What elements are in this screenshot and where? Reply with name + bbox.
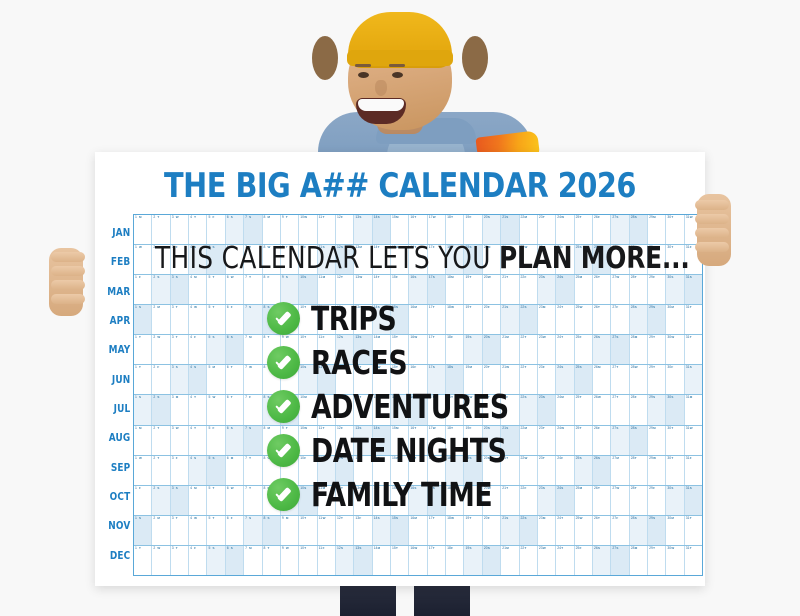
calendar-day-cell[interactable]: 15F (391, 486, 409, 515)
calendar-day-cell[interactable]: 24T (556, 546, 574, 575)
calendar-day-cell[interactable]: 15M (391, 426, 409, 455)
calendar-day-cell[interactable]: 12T (336, 486, 354, 515)
calendar-day-cell[interactable]: 22S (520, 516, 538, 545)
calendar-day-cell[interactable]: 11S (318, 245, 336, 274)
calendar-day-cell[interactable]: 31S (685, 486, 702, 515)
calendar-day-cell[interactable]: 16W (409, 546, 427, 575)
calendar-day-cell[interactable]: 8M (263, 215, 281, 244)
calendar-day-cell[interactable]: 3W (171, 426, 189, 455)
calendar-day-cell[interactable]: 2W (152, 546, 170, 575)
calendar-grid[interactable]: 1M2T3W4T5F6S7S8M9T10W11T12F13S14S15M16T1… (133, 214, 703, 576)
calendar-day-cell[interactable]: 30T (666, 215, 684, 244)
calendar-day-cell[interactable]: 10S (299, 365, 317, 394)
calendar-day-cell[interactable]: 31T (685, 546, 702, 575)
calendar-day-cell[interactable]: 16T (409, 426, 427, 455)
calendar-day-cell[interactable]: 13T (354, 365, 372, 394)
calendar-day-cell[interactable]: 25F (575, 546, 593, 575)
calendar-day-cell[interactable]: 29W (648, 456, 666, 485)
calendar-day-cell[interactable]: 18W (446, 305, 464, 334)
calendar-day-cell[interactable]: 10T (299, 546, 317, 575)
calendar-day-cell[interactable]: 15T (391, 365, 409, 394)
calendar-day-cell[interactable]: 12F (336, 426, 354, 455)
calendar-day-cell[interactable]: 6T (226, 365, 244, 394)
calendar-day-cell[interactable]: 9W (281, 335, 299, 364)
calendar-day-cell[interactable]: 18S (446, 365, 464, 394)
calendar-day-cell[interactable]: 19W (464, 395, 482, 424)
calendar-day-cell[interactable]: 17S (428, 275, 446, 304)
calendar-day-cell[interactable]: 2T (152, 426, 170, 455)
calendar-day-cell[interactable]: 24T (556, 516, 574, 545)
calendar-day-cell[interactable]: 1W (134, 245, 152, 274)
calendar-day-cell[interactable]: 25W (575, 516, 593, 545)
calendar-day-cell[interactable]: 4S (189, 245, 207, 274)
calendar-day-cell[interactable]: 15S (391, 516, 409, 545)
calendar-day-cell[interactable]: 4S (189, 456, 207, 485)
calendar-day-cell[interactable]: 30W (666, 546, 684, 575)
calendar-day-cell[interactable]: 7T (244, 456, 262, 485)
calendar-day-cell[interactable]: 14S (373, 305, 391, 334)
calendar-day-cell[interactable]: 26T (593, 275, 611, 304)
calendar-day-cell[interactable]: 8F (263, 275, 281, 304)
calendar-day-cell[interactable]: 23T (538, 245, 556, 274)
calendar-day-cell[interactable]: 14T (373, 456, 391, 485)
calendar-day-cell[interactable]: 18F (446, 546, 464, 575)
calendar-day-cell[interactable]: 29S (648, 305, 666, 334)
calendar-day-cell[interactable]: 2S (152, 275, 170, 304)
calendar-day-cell[interactable]: 4M (189, 486, 207, 515)
calendar-day-cell[interactable]: 27S (611, 546, 629, 575)
calendar-day-cell[interactable]: 23F (538, 365, 556, 394)
calendar-day-cell[interactable]: 22T (520, 335, 538, 364)
calendar-day-cell[interactable]: 20S (483, 546, 501, 575)
calendar-day-cell[interactable]: 19S (464, 245, 482, 274)
calendar-day-cell[interactable]: 26F (593, 426, 611, 455)
calendar-day-cell[interactable]: 26T (593, 516, 611, 545)
calendar-day-cell[interactable]: 26S (593, 335, 611, 364)
calendar-day-cell[interactable]: 22F (520, 275, 538, 304)
calendar-day-cell[interactable]: 19F (464, 426, 482, 455)
calendar-day-cell[interactable]: 26T (593, 486, 611, 515)
calendar-day-cell[interactable]: 24T (556, 305, 574, 334)
calendar-day-cell[interactable]: 30S (666, 275, 684, 304)
calendar-day-cell[interactable]: 28S (630, 215, 648, 244)
calendar-day-cell[interactable]: 22T (520, 365, 538, 394)
calendar-day-cell[interactable]: 25S (575, 456, 593, 485)
calendar-day-cell[interactable]: 14W (373, 365, 391, 394)
calendar-day-cell[interactable]: 26S (593, 245, 611, 274)
calendar-day-cell[interactable]: 14T (373, 275, 391, 304)
calendar-day-cell[interactable]: 14S (373, 516, 391, 545)
calendar-day-cell[interactable]: 16M (409, 516, 427, 545)
calendar-day-cell[interactable]: 5S (207, 546, 225, 575)
calendar-day-cell[interactable]: 21T (501, 275, 519, 304)
calendar-day-cell[interactable]: 17T (428, 546, 446, 575)
calendar-day-cell[interactable]: 28M (630, 335, 648, 364)
calendar-day-cell[interactable]: 1T (134, 335, 152, 364)
calendar-day-cell[interactable]: 11W (318, 516, 336, 545)
calendar-day-cell[interactable]: 6F (226, 305, 244, 334)
calendar-day-cell[interactable]: 18S (446, 245, 464, 274)
calendar-day-cell[interactable]: 29S (648, 516, 666, 545)
calendar-day-cell[interactable]: 9S (281, 486, 299, 515)
calendar-day-cell[interactable]: 26W (593, 395, 611, 424)
calendar-day-cell[interactable]: 16F (409, 365, 427, 394)
calendar-day-cell[interactable]: 8T (263, 365, 281, 394)
calendar-day-cell[interactable]: 14M (373, 335, 391, 364)
calendar-day-cell[interactable]: 23T (538, 215, 556, 244)
calendar-day-cell[interactable]: 10S (299, 486, 317, 515)
calendar-day-cell[interactable]: 8F (263, 486, 281, 515)
calendar-day-cell[interactable]: 7T (244, 486, 262, 515)
calendar-day-cell[interactable]: 9T (281, 245, 299, 274)
calendar-day-cell[interactable]: 3S (171, 486, 189, 515)
calendar-day-cell[interactable]: 9M (281, 516, 299, 545)
calendar-day-cell[interactable]: 11M (318, 486, 336, 515)
calendar-day-cell[interactable]: 25F (575, 335, 593, 364)
calendar-day-cell[interactable]: 5W (207, 395, 225, 424)
calendar-day-cell[interactable]: 3T (171, 516, 189, 545)
calendar-day-cell[interactable]: 11F (318, 335, 336, 364)
calendar-day-cell[interactable]: 19S (464, 335, 482, 364)
calendar-day-cell[interactable]: 27T (611, 365, 629, 394)
calendar-day-cell[interactable]: 12W (336, 395, 354, 424)
calendar-day-cell[interactable]: 10W (299, 426, 317, 455)
calendar-day-cell[interactable]: 2W (152, 335, 170, 364)
calendar-day-cell[interactable]: 23M (538, 305, 556, 334)
calendar-day-cell[interactable]: 6S (226, 546, 244, 575)
calendar-day-cell[interactable]: 7W (244, 365, 262, 394)
calendar-day-cell[interactable]: 1F (134, 275, 152, 304)
calendar-day-cell[interactable]: 17F (428, 245, 446, 274)
calendar-day-cell[interactable]: 19F (464, 215, 482, 244)
calendar-day-cell[interactable]: 14M (373, 546, 391, 575)
calendar-day-cell[interactable]: 31W (685, 426, 702, 455)
calendar-day-cell[interactable]: 7M (244, 335, 262, 364)
calendar-day-cell[interactable]: 17T (428, 305, 446, 334)
calendar-day-cell[interactable]: 9M (281, 305, 299, 334)
calendar-day-cell[interactable]: 1M (134, 215, 152, 244)
calendar-day-cell[interactable]: 31T (685, 305, 702, 334)
calendar-day-cell[interactable]: 25T (575, 395, 593, 424)
calendar-day-cell[interactable]: 12T (336, 516, 354, 545)
calendar-day-cell[interactable]: 26T (593, 305, 611, 334)
calendar-day-cell[interactable]: 23M (538, 516, 556, 545)
calendar-day-cell[interactable]: 21S (501, 215, 519, 244)
calendar-day-cell[interactable]: 14T (373, 245, 391, 274)
calendar-day-cell[interactable]: 17W (428, 215, 446, 244)
calendar-day-cell[interactable]: 17S (428, 365, 446, 394)
calendar-day-cell[interactable]: 29F (648, 275, 666, 304)
calendar-day-cell[interactable]: 29T (648, 365, 666, 394)
calendar-day-cell[interactable]: 28S (630, 516, 648, 545)
calendar-day-cell[interactable]: 3F (171, 456, 189, 485)
calendar-day-cell[interactable]: 18M (446, 275, 464, 304)
calendar-day-cell[interactable]: 28T (630, 275, 648, 304)
calendar-day-cell[interactable]: 6S (226, 215, 244, 244)
calendar-day-cell[interactable]: 26S (593, 546, 611, 575)
calendar-day-cell[interactable]: 12S (336, 456, 354, 485)
calendar-day-cell[interactable]: 20F (483, 305, 501, 334)
calendar-day-cell[interactable]: 31M (685, 395, 702, 424)
calendar-day-cell[interactable]: 25S (575, 365, 593, 394)
calendar-day-cell[interactable]: 1W (134, 456, 152, 485)
calendar-day-cell[interactable]: 6W (226, 486, 244, 515)
calendar-day-cell[interactable]: 2T (152, 215, 170, 244)
calendar-day-cell[interactable]: 28T (630, 456, 648, 485)
calendar-day-cell[interactable]: 27S (611, 215, 629, 244)
calendar-day-cell[interactable]: 15M (391, 215, 409, 244)
calendar-day-cell[interactable]: 3T (171, 546, 189, 575)
calendar-day-cell[interactable]: 29F (648, 486, 666, 515)
calendar-day-cell[interactable]: 20W (483, 486, 501, 515)
calendar-day-cell[interactable]: 11T (318, 395, 336, 424)
calendar-day-cell[interactable]: 11S (318, 456, 336, 485)
calendar-day-cell[interactable]: 13M (354, 245, 372, 274)
calendar-day-cell[interactable]: 22M (520, 426, 538, 455)
calendar-day-cell[interactable]: 3T (171, 305, 189, 334)
calendar-day-cell[interactable]: 12M (336, 365, 354, 394)
calendar-day-cell[interactable]: 16T (409, 245, 427, 274)
calendar-day-cell[interactable]: 2T (152, 245, 170, 274)
calendar-day-cell[interactable]: 5S (207, 456, 225, 485)
calendar-day-cell[interactable]: 27W (611, 275, 629, 304)
calendar-day-cell[interactable]: 19T (464, 275, 482, 304)
calendar-day-cell[interactable]: 25M (575, 275, 593, 304)
calendar-day-cell[interactable]: 23W (538, 335, 556, 364)
calendar-day-cell[interactable]: 16S (409, 486, 427, 515)
calendar-day-cell[interactable]: 2F (152, 365, 170, 394)
calendar-day-cell[interactable]: 31S (685, 275, 702, 304)
calendar-day-cell[interactable]: 15F (391, 275, 409, 304)
calendar-day-cell[interactable]: 14S (373, 215, 391, 244)
calendar-day-cell[interactable]: 5F (207, 215, 225, 244)
calendar-day-cell[interactable]: 6F (226, 516, 244, 545)
calendar-day-cell[interactable]: 19M (464, 365, 482, 394)
calendar-day-cell[interactable]: 6T (226, 395, 244, 424)
calendar-day-cell[interactable]: 12T (336, 305, 354, 334)
calendar-day-cell[interactable]: 9F (281, 365, 299, 394)
calendar-day-cell[interactable]: 10T (299, 305, 317, 334)
calendar-day-cell[interactable]: 25T (575, 215, 593, 244)
calendar-day-cell[interactable]: 11W (318, 305, 336, 334)
calendar-day-cell[interactable]: 16T (409, 456, 427, 485)
calendar-day-cell[interactable]: 10W (299, 215, 317, 244)
calendar-day-cell[interactable]: 22T (520, 546, 538, 575)
calendar-day-cell[interactable]: 4F (189, 335, 207, 364)
calendar-day-cell[interactable]: 14F (373, 395, 391, 424)
calendar-day-cell[interactable]: 13W (354, 275, 372, 304)
calendar-day-cell[interactable]: 15S (391, 305, 409, 334)
calendar-day-cell[interactable]: 10F (299, 456, 317, 485)
calendar-day-cell[interactable]: 3W (171, 215, 189, 244)
calendar-day-cell[interactable]: 30F (666, 365, 684, 394)
calendar-day-cell[interactable]: 6W (226, 275, 244, 304)
calendar-day-cell[interactable]: 7M (244, 546, 262, 575)
calendar-day-cell[interactable]: 19T (464, 486, 482, 515)
calendar-day-cell[interactable]: 12S (336, 335, 354, 364)
calendar-day-cell[interactable]: 19S (464, 456, 482, 485)
calendar-day-cell[interactable]: 22S (520, 305, 538, 334)
calendar-day-cell[interactable]: 3F (171, 245, 189, 274)
calendar-day-cell[interactable]: 8T (263, 546, 281, 575)
calendar-day-cell[interactable]: 28M (630, 546, 648, 575)
calendar-day-cell[interactable]: 9S (281, 395, 299, 424)
calendar-day-cell[interactable]: 27S (611, 426, 629, 455)
calendar-day-cell[interactable]: 16S (409, 395, 427, 424)
calendar-day-cell[interactable]: 9S (281, 275, 299, 304)
calendar-day-cell[interactable]: 1S (134, 516, 152, 545)
calendar-day-cell[interactable]: 8S (263, 516, 281, 545)
calendar-day-cell[interactable]: 15T (391, 546, 409, 575)
calendar-day-cell[interactable]: 17T (428, 335, 446, 364)
calendar-day-cell[interactable]: 7T (244, 245, 262, 274)
calendar-day-cell[interactable]: 23T (538, 426, 556, 455)
calendar-day-cell[interactable]: 16M (409, 305, 427, 334)
calendar-day-cell[interactable]: 4W (189, 516, 207, 545)
calendar-day-cell[interactable]: 23S (538, 275, 556, 304)
calendar-day-cell[interactable]: 12S (336, 245, 354, 274)
calendar-day-cell[interactable]: 5M (207, 365, 225, 394)
calendar-day-cell[interactable]: 21S (501, 426, 519, 455)
calendar-day-cell[interactable]: 23S (538, 395, 556, 424)
calendar-day-cell[interactable]: 28S (630, 426, 648, 455)
calendar-day-cell[interactable]: 12F (336, 215, 354, 244)
calendar-day-cell[interactable]: 25T (575, 426, 593, 455)
calendar-day-cell[interactable]: 4T (189, 395, 207, 424)
calendar-day-cell[interactable]: 31S (685, 365, 702, 394)
calendar-day-cell[interactable]: 1S (134, 305, 152, 334)
calendar-day-cell[interactable]: 17F (428, 456, 446, 485)
calendar-day-cell[interactable]: 26F (593, 215, 611, 244)
calendar-day-cell[interactable]: 27F (611, 305, 629, 334)
calendar-day-cell[interactable]: 28F (630, 395, 648, 424)
calendar-day-cell[interactable]: 30S (666, 486, 684, 515)
calendar-day-cell[interactable]: 4T (189, 426, 207, 455)
calendar-day-cell[interactable]: 15T (391, 335, 409, 364)
calendar-poster[interactable]: THE BIG A## CALENDAR 2026 JANFEBMARAPRMA… (95, 152, 705, 586)
calendar-day-cell[interactable]: 13S (354, 546, 372, 575)
calendar-day-cell[interactable]: 12S (336, 546, 354, 575)
calendar-day-cell[interactable]: 1T (134, 365, 152, 394)
calendar-day-cell[interactable]: 2S (152, 486, 170, 515)
calendar-day-cell[interactable]: 26M (593, 365, 611, 394)
calendar-day-cell[interactable]: 20S (483, 215, 501, 244)
calendar-day-cell[interactable]: 11T (318, 426, 336, 455)
calendar-day-cell[interactable]: 18T (446, 395, 464, 424)
calendar-day-cell[interactable]: 25W (575, 305, 593, 334)
calendar-day-cell[interactable]: 5S (207, 245, 225, 274)
calendar-day-cell[interactable]: 24T (556, 335, 574, 364)
calendar-day-cell[interactable]: 20T (483, 395, 501, 424)
calendar-day-cell[interactable]: 1F (134, 486, 152, 515)
calendar-day-cell[interactable]: 13M (354, 456, 372, 485)
calendar-day-cell[interactable]: 30T (666, 245, 684, 274)
calendar-day-cell[interactable]: 21T (501, 456, 519, 485)
calendar-day-cell[interactable]: 13W (354, 486, 372, 515)
calendar-day-cell[interactable]: 18F (446, 335, 464, 364)
calendar-day-cell[interactable]: 15S (391, 395, 409, 424)
calendar-day-cell[interactable]: 20F (483, 516, 501, 545)
calendar-day-cell[interactable]: 17S (428, 486, 446, 515)
calendar-day-cell[interactable]: 10T (299, 335, 317, 364)
calendar-day-cell[interactable]: 9T (281, 215, 299, 244)
calendar-day-cell[interactable]: 7S (244, 516, 262, 545)
calendar-day-cell[interactable]: 7T (244, 275, 262, 304)
calendar-day-cell[interactable]: 27T (611, 395, 629, 424)
calendar-day-cell[interactable]: 15W (391, 456, 409, 485)
calendar-day-cell[interactable]: 13F (354, 305, 372, 334)
calendar-day-cell[interactable]: 21T (501, 245, 519, 274)
calendar-day-cell[interactable]: 17T (428, 516, 446, 545)
calendar-day-cell[interactable]: 10T (299, 516, 317, 545)
calendar-day-cell[interactable]: 3M (171, 395, 189, 424)
calendar-day-cell[interactable]: 5T (207, 486, 225, 515)
calendar-day-cell[interactable]: 4W (189, 305, 207, 334)
calendar-day-cell[interactable]: 19T (464, 516, 482, 545)
calendar-day-cell[interactable]: 10F (299, 245, 317, 274)
calendar-day-cell[interactable]: 28T (630, 245, 648, 274)
calendar-day-cell[interactable]: 17W (428, 426, 446, 455)
calendar-day-cell[interactable]: 24F (556, 456, 574, 485)
calendar-day-cell[interactable]: 22S (520, 395, 538, 424)
calendar-day-cell[interactable]: 22W (520, 456, 538, 485)
calendar-day-cell[interactable]: 26S (593, 456, 611, 485)
calendar-day-cell[interactable]: 7S (244, 305, 262, 334)
calendar-day-cell[interactable]: 15W (391, 245, 409, 274)
calendar-day-cell[interactable]: 2M (152, 305, 170, 334)
calendar-day-cell[interactable]: 19T (464, 305, 482, 334)
calendar-day-cell[interactable]: 4S (189, 365, 207, 394)
calendar-day-cell[interactable]: 23T (538, 456, 556, 485)
calendar-day-cell[interactable]: 3T (171, 335, 189, 364)
calendar-day-cell[interactable]: 20T (483, 365, 501, 394)
calendar-day-cell[interactable]: 4F (189, 546, 207, 575)
calendar-day-cell[interactable]: 8S (263, 395, 281, 424)
calendar-day-cell[interactable]: 9W (281, 546, 299, 575)
calendar-day-cell[interactable]: 20W (483, 275, 501, 304)
calendar-day-cell[interactable]: 19S (464, 546, 482, 575)
calendar-day-cell[interactable]: 30M (666, 305, 684, 334)
calendar-day-cell[interactable]: 28W (630, 365, 648, 394)
calendar-day-cell[interactable]: 6M (226, 245, 244, 274)
calendar-day-cell[interactable]: 20M (483, 456, 501, 485)
calendar-day-cell[interactable]: 18T (446, 215, 464, 244)
calendar-day-cell[interactable]: 10S (299, 275, 317, 304)
calendar-day-cell[interactable]: 21T (501, 486, 519, 515)
calendar-day-cell[interactable]: 18M (446, 486, 464, 515)
calendar-day-cell[interactable]: 24W (556, 426, 574, 455)
calendar-day-cell[interactable]: 7F (244, 395, 262, 424)
calendar-day-cell[interactable]: 16T (409, 215, 427, 244)
calendar-day-cell[interactable]: 8S (263, 305, 281, 334)
calendar-day-cell[interactable]: 16S (409, 275, 427, 304)
calendar-day-cell[interactable]: 21S (501, 516, 519, 545)
calendar-day-cell[interactable]: 3S (171, 275, 189, 304)
calendar-day-cell[interactable]: 21S (501, 305, 519, 334)
calendar-day-cell[interactable]: 8W (263, 456, 281, 485)
calendar-day-cell[interactable]: 8W (263, 245, 281, 274)
calendar-day-cell[interactable]: 11S (318, 365, 336, 394)
calendar-day-cell[interactable]: 18W (446, 516, 464, 545)
calendar-day-cell[interactable]: 22W (520, 245, 538, 274)
calendar-day-cell[interactable]: 30T (666, 426, 684, 455)
calendar-day-cell[interactable]: 2M (152, 516, 170, 545)
calendar-day-cell[interactable]: 31T (685, 516, 702, 545)
calendar-day-cell[interactable]: 9T (281, 456, 299, 485)
calendar-day-cell[interactable]: 23S (538, 486, 556, 515)
calendar-day-cell[interactable]: 20S (483, 426, 501, 455)
calendar-day-cell[interactable]: 7S (244, 426, 262, 455)
